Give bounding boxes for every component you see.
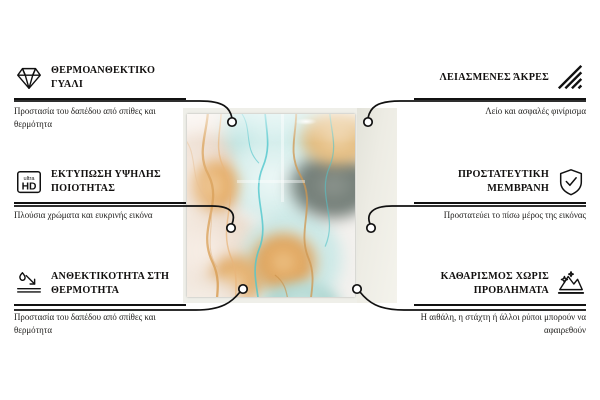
ultra-hd-icon-bottom: HD xyxy=(22,182,37,193)
feature-title: ΛΕΙΑΣΜΕΝΕΣ ΆΚΡΕΣ xyxy=(440,71,549,85)
infographic-stage: ΘΕΡΜΟΑΝΘΕΚΤΙΚΟ ΓΥΑΛΙ Προστασία του δαπέδ… xyxy=(0,0,600,400)
feature-description: Η αιθάλη, η στάχτη ή άλλοι ρύποι μπορούν… xyxy=(414,311,586,337)
sparkle-wipe-icon xyxy=(556,269,586,299)
light-hotspot xyxy=(295,118,317,125)
feature-high-quality-print: ultra HD ΕΚΤΥΠΩΣΗ ΥΨΗΛΗΣ ΠΟΙΟΤΗΤΑΣ Πλούσ… xyxy=(14,166,186,222)
feature-title: ΕΚΤΥΠΩΣΗ ΥΨΗΛΗΣ ΠΟΙΟΤΗΤΑΣ xyxy=(51,168,186,196)
feature-heat-durability: ΑΝΘΕΚΤΙΚΟΤΗΤΑ ΣΤΗ ΘΕΡΜΟΤΗΤΑ Προστασία το… xyxy=(14,268,186,336)
product-image xyxy=(183,108,397,303)
feature-title: ΚΑΘΑΡΙΣΜΟΣ ΧΩΡΙΣ ΠΡΟΒΛΗΜΑΤΑ xyxy=(414,270,549,298)
feature-heat-resistant-glass: ΘΕΡΜΟΑΝΘΕΚΤΙΚΟ ΓΥΑΛΙ Προστασία του δαπέδ… xyxy=(14,62,186,130)
feature-title: ΑΝΘΕΚΤΙΚΟΤΗΤΑ ΣΤΗ ΘΕΡΜΟΤΗΤΑ xyxy=(51,270,186,298)
window-reflection-vertical xyxy=(281,114,284,202)
diamond-icon xyxy=(14,63,44,93)
feature-protective-membrane: ΠΡΟΣΤΑΤΕΥΤΙΚΗ ΜΕΜΒΡΑΝΗ Προστατεύει το πί… xyxy=(414,166,586,222)
divider xyxy=(414,304,586,306)
feature-title: ΠΡΟΣΤΑΤΕΥΤΙΚΗ ΜΕΜΒΡΑΝΗ xyxy=(414,168,549,196)
shield-check-icon xyxy=(556,167,586,197)
flame-on-surface-icon xyxy=(14,269,44,299)
glass-splashback xyxy=(187,114,355,297)
feature-description: Προστασία του δαπέδου από σπίθες και θερ… xyxy=(14,311,186,337)
marble-veins xyxy=(187,114,355,297)
feature-description: Προστασία του δαπέδου από σπίθες και θερ… xyxy=(14,105,186,131)
feature-description: Πλούσια χρώματα και ευκρινής εικόνα xyxy=(14,209,186,222)
feature-polished-edges: ΛΕΙΑΣΜΕΝΕΣ ΆΚΡΕΣ Λείο και ασφαλές φινίρι… xyxy=(414,62,586,118)
product-back-panel xyxy=(357,108,397,303)
feature-description: Προστατεύει το πίσω μέρος της εικόνας xyxy=(414,209,586,222)
feature-header: ΚΑΘΑΡΙΣΜΟΣ ΧΩΡΙΣ ΠΡΟΒΛΗΜΑΤΑ xyxy=(414,268,586,300)
feature-title: ΘΕΡΜΟΑΝΘΕΚΤΙΚΟ ΓΥΑΛΙ xyxy=(51,64,186,92)
divider xyxy=(14,98,186,100)
feature-easy-cleaning: ΚΑΘΑΡΙΣΜΟΣ ΧΩΡΙΣ ΠΡΟΒΛΗΜΑΤΑ Η αιθάλη, η … xyxy=(414,268,586,336)
divider xyxy=(14,304,186,306)
feature-header: ΛΕΙΑΣΜΕΝΕΣ ΆΚΡΕΣ xyxy=(414,62,586,94)
window-reflection-horizontal xyxy=(237,180,304,183)
feature-description: Λείο και ασφαλές φινίρισμα xyxy=(414,105,586,118)
feature-header: ultra HD ΕΚΤΥΠΩΣΗ ΥΨΗΛΗΣ ΠΟΙΟΤΗΤΑΣ xyxy=(14,166,186,198)
divider xyxy=(414,98,586,100)
diagonal-stripes-icon xyxy=(556,63,586,93)
feature-header: ΘΕΡΜΟΑΝΘΕΚΤΙΚΟ ΓΥΑΛΙ xyxy=(14,62,186,94)
divider xyxy=(14,202,186,204)
feature-header: ΑΝΘΕΚΤΙΚΟΤΗΤΑ ΣΤΗ ΘΕΡΜΟΤΗΤΑ xyxy=(14,268,186,300)
ultra-hd-icon: ultra HD xyxy=(14,167,44,197)
feature-header: ΠΡΟΣΤΑΤΕΥΤΙΚΗ ΜΕΜΒΡΑΝΗ xyxy=(414,166,586,198)
divider xyxy=(414,202,586,204)
